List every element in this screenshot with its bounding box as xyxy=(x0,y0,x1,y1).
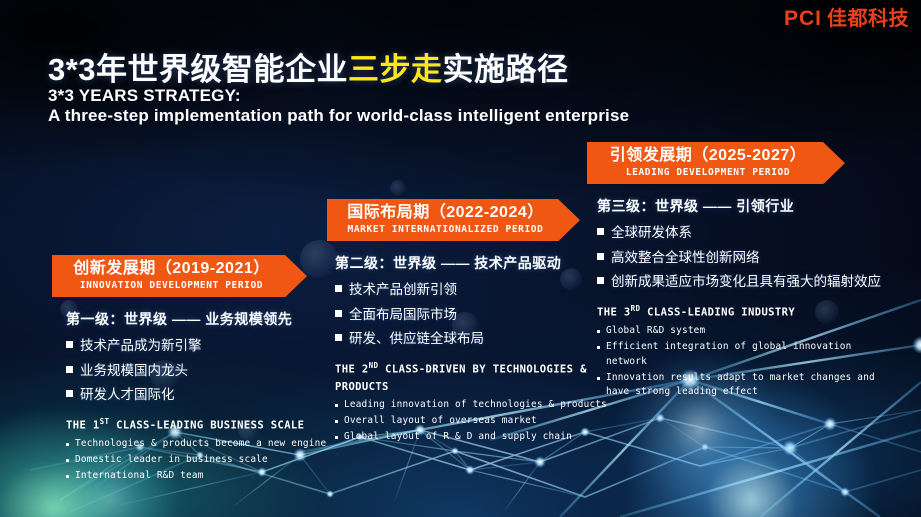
list-item: Technologies & products become a new eng… xyxy=(66,437,352,452)
en-heading-pre: THE 2 xyxy=(335,364,369,376)
company-logo: PCI 佳都科技 xyxy=(784,8,909,29)
dot-bullet-icon xyxy=(66,475,69,478)
step-body-3: 第三级：世界级 —— 引领行业 全球研发体系 高效整合全球性创新网络 创新成果适… xyxy=(587,184,887,399)
square-bullet-icon xyxy=(597,277,604,284)
en-heading-pre: THE 3 xyxy=(597,307,631,319)
bullet-text: Leading innovation of technologies & pro… xyxy=(344,398,607,413)
list-item: International R&D team xyxy=(66,469,352,484)
step-banner-1[interactable]: 创新发展期（2019-2021） INNOVATION DEVELOPMENT … xyxy=(52,255,307,297)
page-title-cn: 3*3年世界级智能企业三步走实施路径 xyxy=(48,44,569,89)
bullet-text: 业务规模国内龙头 xyxy=(80,361,188,381)
step-banner-en-2: MARKET INTERNATIONALIZED PERIOD xyxy=(345,224,546,236)
page-title-cn-pre: 3*3年世界级智能企业 xyxy=(48,52,348,87)
step-banner-2[interactable]: 国际布局期（2022-2024） MARKET INTERNATIONALIZE… xyxy=(327,199,580,241)
step-banner-cn-2: 国际布局期（2022-2024） xyxy=(345,203,546,223)
step-body-1: 第一级：世界级 —— 业务规模领先 技术产品成为新引擎 业务规模国内龙头 研发人… xyxy=(52,297,352,483)
list-item: 创新成果适应市场变化且具有强大的辐射效应 xyxy=(597,272,887,292)
page-title-cn-highlight: 三步走 xyxy=(348,52,443,87)
step-card-3[interactable]: 引领发展期（2025-2027） LEADING DEVELOPMENT PER… xyxy=(587,142,887,401)
square-bullet-icon xyxy=(335,310,342,317)
bullet-text: 研发人才国际化 xyxy=(80,385,175,405)
step-banner-cn-3: 引领发展期（2025-2027） xyxy=(605,146,811,166)
dot-bullet-icon xyxy=(335,436,338,439)
page-subtitle-line1: 3*3 YEARS STRATEGY: xyxy=(48,86,241,106)
en-heading-sup: RD xyxy=(631,304,641,313)
list-item: 研发、供应链全球布局 xyxy=(335,329,617,349)
step-banner-3[interactable]: 引领发展期（2025-2027） LEADING DEVELOPMENT PER… xyxy=(587,142,845,184)
dot-bullet-icon xyxy=(66,443,69,446)
list-item: Overall layout of overseas market xyxy=(335,414,617,429)
bullet-text: 技术产品创新引领 xyxy=(349,280,457,300)
bullet-text: 创新成果适应市场变化且具有强大的辐射效应 xyxy=(611,272,881,292)
dot-bullet-icon xyxy=(335,420,338,423)
square-bullet-icon xyxy=(597,253,604,260)
list-item: Global R&D system xyxy=(597,324,887,339)
bullet-text: Overall layout of overseas market xyxy=(344,414,537,429)
step-en-heading-2: THE 2ND CLASS-DRIVEN BY TECHNOLOGIES & P… xyxy=(335,360,617,396)
bullet-text: International R&D team xyxy=(75,469,204,484)
en-heading-post: CLASS-LEADING BUSINESS SCALE xyxy=(109,420,304,432)
dot-bullet-icon xyxy=(597,377,600,380)
bullet-text: Global layout of R & D and supply chain xyxy=(344,430,572,445)
list-item: Domestic leader in business scale xyxy=(66,453,352,468)
square-bullet-icon xyxy=(66,341,73,348)
bullet-text: 全球研发体系 xyxy=(611,223,692,243)
step-body-2: 第二级：世界级 —— 技术产品驱动 技术产品创新引领 全面布局国际市场 研发、供… xyxy=(327,241,617,445)
bullet-text: Efficient integration of global innovati… xyxy=(606,340,887,369)
step-en-heading-3: THE 3RD CLASS-LEADING INDUSTRY xyxy=(597,303,887,322)
list-item: Leading innovation of technologies & pro… xyxy=(335,398,617,413)
step-banner-en-1: INNOVATION DEVELOPMENT PERIOD xyxy=(70,280,273,292)
page-subtitle-line2: A three-step implementation path for wor… xyxy=(48,106,629,126)
square-bullet-icon xyxy=(335,285,342,292)
square-bullet-icon xyxy=(597,228,604,235)
bullet-text: 高效整合全球性创新网络 xyxy=(611,248,760,268)
list-item: 业务规模国内龙头 xyxy=(66,361,352,381)
bullet-text: 技术产品成为新引擎 xyxy=(80,336,202,356)
step-level-2: 第二级：世界级 —— 技术产品驱动 xyxy=(335,253,617,273)
dot-bullet-icon xyxy=(597,330,600,333)
en-heading-post: CLASS-LEADING INDUSTRY xyxy=(640,307,795,319)
square-bullet-icon xyxy=(66,366,73,373)
en-heading-sup: ST xyxy=(100,417,110,426)
step-level-3: 第三级：世界级 —— 引领行业 xyxy=(597,196,887,216)
dot-bullet-icon xyxy=(66,459,69,462)
list-item: Innovation results adapt to market chang… xyxy=(597,371,887,400)
logo-mark-pci: PCI xyxy=(784,8,822,29)
bullet-text: 研发、供应链全球布局 xyxy=(349,329,484,349)
step-level-1: 第一级：世界级 —— 业务规模领先 xyxy=(66,309,352,329)
list-item: 全球研发体系 xyxy=(597,223,887,243)
step-banner-cn-1: 创新发展期（2019-2021） xyxy=(70,259,273,279)
list-item: 技术产品创新引领 xyxy=(335,280,617,300)
list-item: 技术产品成为新引擎 xyxy=(66,336,352,356)
step-card-2[interactable]: 国际布局期（2022-2024） MARKET INTERNATIONALIZE… xyxy=(327,199,617,446)
list-item: Global layout of R & D and supply chain xyxy=(335,430,617,445)
bullet-text: 全面布局国际市场 xyxy=(349,305,457,325)
slide-canvas: PCI 佳都科技 3*3年世界级智能企业三步走实施路径 3*3 YEARS ST… xyxy=(0,0,921,517)
list-item: 高效整合全球性创新网络 xyxy=(597,248,887,268)
page-title-cn-post: 实施路径 xyxy=(443,52,569,87)
dot-bullet-icon xyxy=(335,404,338,407)
step-banner-en-3: LEADING DEVELOPMENT PERIOD xyxy=(605,167,811,179)
list-item: 研发人才国际化 xyxy=(66,385,352,405)
list-item: 全面布局国际市场 xyxy=(335,305,617,325)
bullet-text: Technologies & products become a new eng… xyxy=(75,437,326,452)
en-heading-pre: THE 1 xyxy=(66,420,100,432)
step-en-heading-1: THE 1ST CLASS-LEADING BUSINESS SCALE xyxy=(66,416,352,435)
square-bullet-icon xyxy=(66,390,73,397)
bullet-text: Innovation results adapt to market chang… xyxy=(606,371,887,400)
bullet-text: Domestic leader in business scale xyxy=(75,453,268,468)
square-bullet-icon xyxy=(335,334,342,341)
bullet-text: Global R&D system xyxy=(606,324,705,339)
step-card-1[interactable]: 创新发展期（2019-2021） INNOVATION DEVELOPMENT … xyxy=(52,255,352,485)
logo-mark-cn: 佳都科技 xyxy=(827,9,909,29)
dot-bullet-icon xyxy=(597,346,600,349)
list-item: Efficient integration of global innovati… xyxy=(597,340,887,369)
en-heading-sup: ND xyxy=(369,361,379,370)
